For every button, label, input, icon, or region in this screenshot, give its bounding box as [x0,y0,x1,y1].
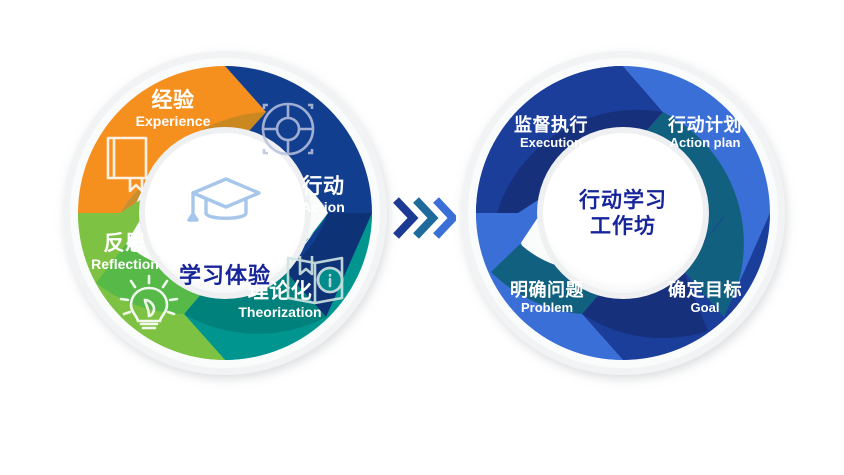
label-goal[interactable]: 确定目标 Goal [640,281,770,315]
label-problem[interactable]: 明确问题 Problem [482,281,612,315]
lifebuoy-icon [255,96,321,162]
chevron-3-icon [436,200,453,236]
transition-arrows [392,192,456,244]
hub-label-left: 学习体验 [155,258,295,290]
label-action[interactable]: 行动 Action [278,176,368,215]
right-workshop-cycle: 监督执行 Execution 行动计划 Action plan 确定目标 Goa… [458,48,788,378]
left-learning-cycle: 经验 Experience 行动 Action 理论化 Theorization… [60,48,390,378]
label-execution[interactable]: 监督执行 Execution [486,116,616,150]
label-action-plan[interactable]: 行动计划 Action plan [640,116,770,150]
diagram-canvas: 经验 Experience 行动 Action 理论化 Theorization… [0,0,844,475]
label-experience[interactable]: 经验 Experience [108,90,238,129]
book-bookmark-icon [100,132,160,194]
chevron-1-icon [396,200,413,236]
chevron-2-icon [416,200,433,236]
hub-label-right: 行动学习 工作坊 [553,188,693,239]
